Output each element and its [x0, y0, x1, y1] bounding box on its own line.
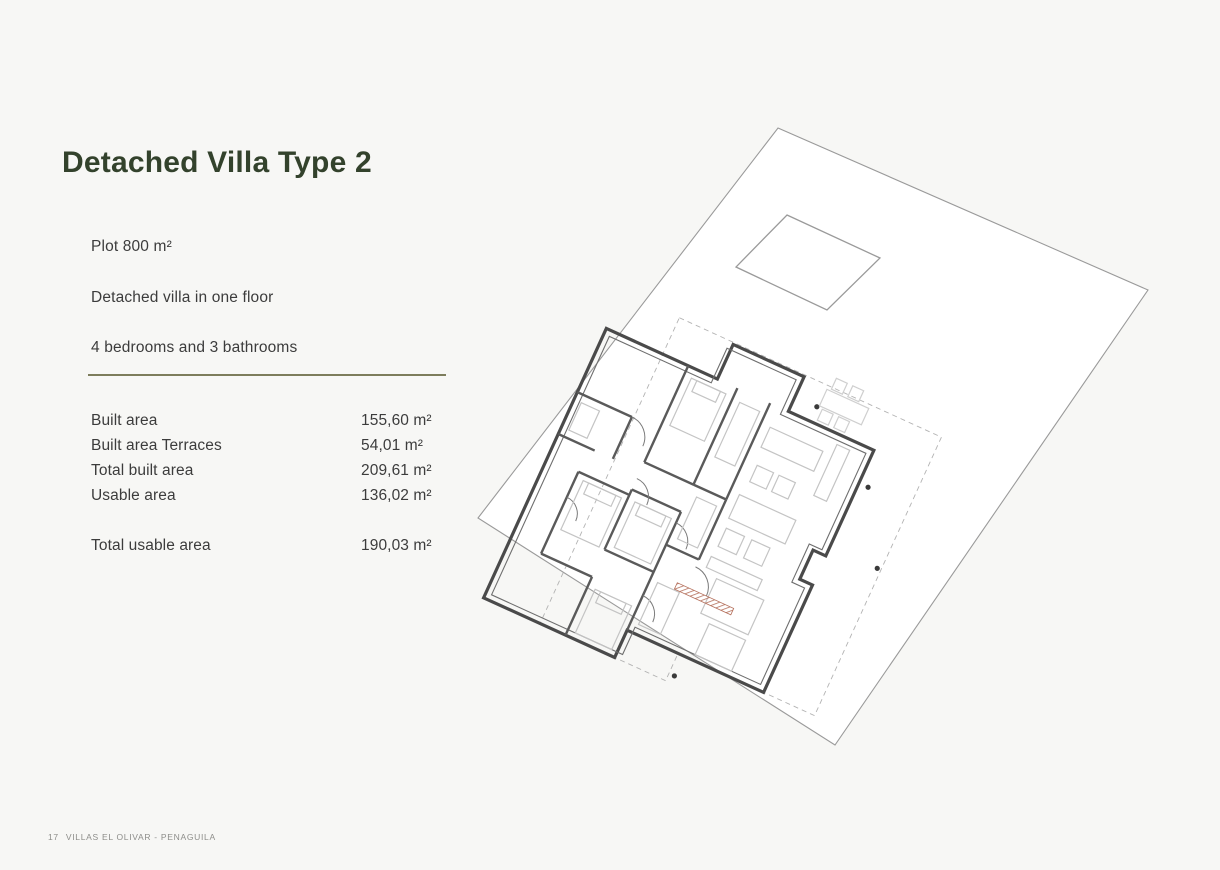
table-row: Total built area 209,61 m² — [91, 462, 451, 487]
brochure-page: Detached Villa Type 2 Plot 800 m² Detach… — [0, 0, 1220, 870]
spec-plot: Plot 800 m² — [91, 238, 172, 256]
area-table: Built area 155,60 m² Built area Terraces… — [91, 412, 451, 562]
page-title: Detached Villa Type 2 — [62, 146, 372, 180]
area-label: Usable area — [91, 487, 176, 505]
area-value: 54,01 m² — [361, 437, 423, 455]
spec-rooms: 4 bedrooms and 3 bathrooms — [91, 339, 297, 357]
area-value: 155,60 m² — [361, 412, 432, 430]
area-value: 136,02 m² — [361, 487, 432, 505]
site-plan-image — [455, 95, 1175, 775]
total-value: 190,03 m² — [361, 537, 432, 555]
column-marker — [671, 672, 678, 679]
area-label: Total built area — [91, 462, 193, 480]
footer: 17VILLAS EL OLIVAR - PENAGUILA — [48, 832, 216, 842]
footer-text: VILLAS EL OLIVAR - PENAGUILA — [66, 832, 216, 842]
area-label: Built area — [91, 412, 157, 430]
table-row-total: Total usable area 190,03 m² — [91, 537, 451, 562]
footer-page-number: 17 — [48, 832, 59, 842]
area-label: Built area Terraces — [91, 437, 222, 455]
plot-boundary — [478, 128, 1148, 745]
divider — [88, 374, 446, 376]
table-row: Built area 155,60 m² — [91, 412, 451, 437]
table-row: Usable area 136,02 m² — [91, 487, 451, 512]
table-row: Built area Terraces 54,01 m² — [91, 437, 451, 462]
area-value: 209,61 m² — [361, 462, 432, 480]
spec-type: Detached villa in one floor — [91, 289, 273, 307]
total-label: Total usable area — [91, 537, 211, 555]
